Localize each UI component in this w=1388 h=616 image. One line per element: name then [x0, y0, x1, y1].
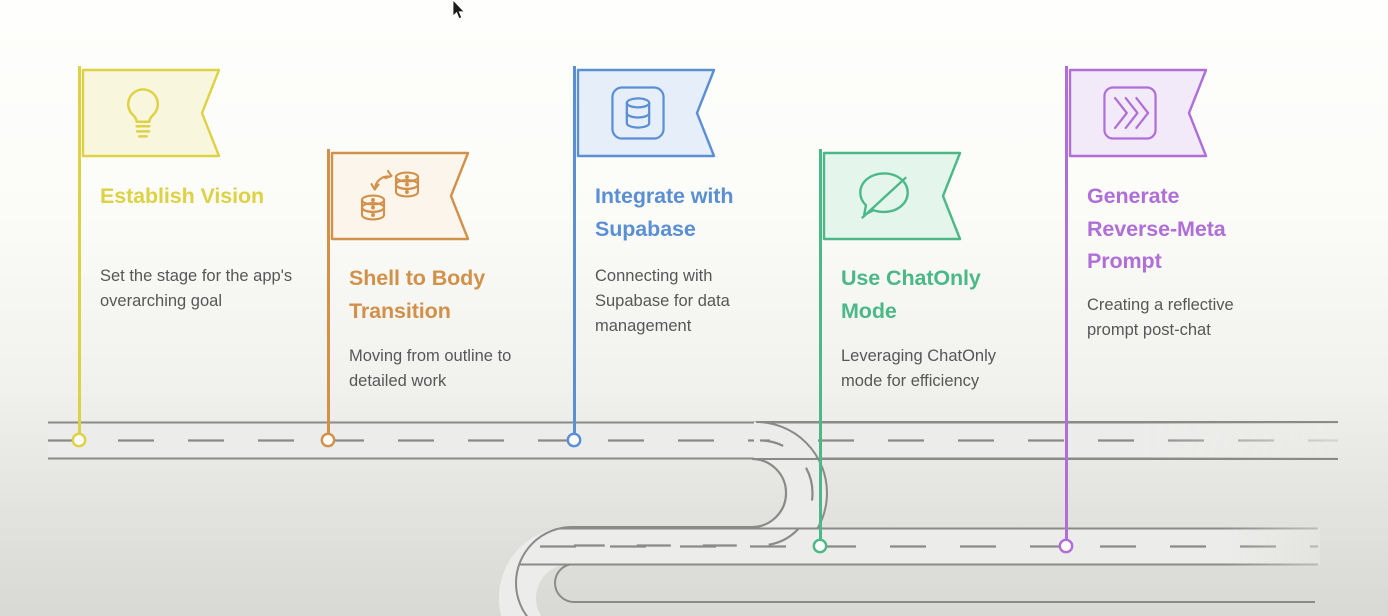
milestone-description: Connecting with Supabase for data manage… [595, 264, 791, 339]
roadmap-infographic: Establish VisionSet the stage for the ap… [0, 0, 1388, 616]
milestone-description: Leveraging ChatOnly mode for efficiency [841, 344, 1037, 394]
database-migration-icon [357, 163, 427, 229]
database-icon [603, 80, 673, 146]
milestone-shell-to-body-transition[interactable]: Shell to Body TransitionMoving from outl… [327, 0, 523, 616]
milestone-title: Establish Vision [100, 180, 264, 213]
fast-forward-icon [1095, 80, 1165, 146]
milestone-description: Creating a reflective prompt post-chat [1087, 293, 1283, 343]
milestone-title: Use ChatOnly Mode [841, 262, 1015, 327]
milestone-title: Integrate with Supabase [595, 180, 769, 245]
milestone-integrate-with-supabase[interactable]: Integrate with SupabaseConnecting with S… [573, 0, 769, 616]
no-chat-icon [849, 163, 919, 229]
milestone-generate-reverse-meta-prompt[interactable]: Generate Reverse-Meta PromptCreating a r… [1065, 0, 1261, 616]
milestone-title: Generate Reverse-Meta Prompt [1087, 180, 1261, 278]
milestone-establish-vision[interactable]: Establish VisionSet the stage for the ap… [78, 0, 274, 616]
milestone-description: Moving from outline to detailed work [349, 344, 545, 394]
lightbulb-icon [108, 80, 178, 146]
milestone-description: Set the stage for the app's overarching … [100, 264, 296, 314]
milestone-use-chatonly-mode[interactable]: Use ChatOnly ModeLeveraging ChatOnly mod… [819, 0, 1015, 616]
milestone-title: Shell to Body Transition [349, 262, 523, 327]
